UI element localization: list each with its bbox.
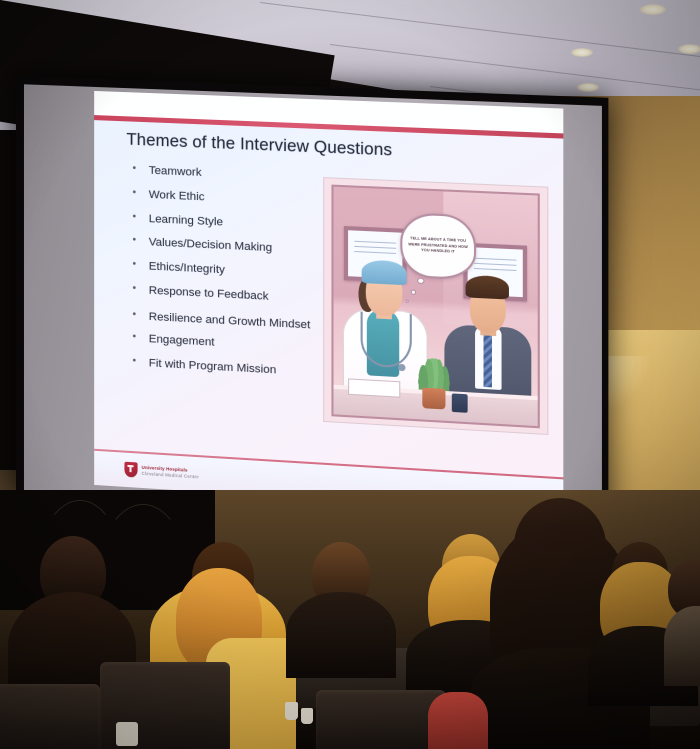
bullet-item: Work Ethic [128, 189, 333, 210]
bullet-item: Ethics/Integrity [128, 261, 333, 283]
bullet-item: Response to Feedback [128, 285, 333, 307]
audience-torso [286, 592, 396, 678]
screen-surface: Themes of the Interview Questions Teamwo… [24, 84, 602, 529]
speech-bubble-tail [410, 290, 415, 295]
coffee-cup [116, 722, 138, 746]
audience-member-red-jacket [428, 692, 488, 749]
conference-chair [316, 690, 446, 749]
audience-area [0, 490, 700, 749]
speech-bubble: Tell me about a time you were frustrated… [400, 212, 476, 280]
presentation-slide: Themes of the Interview Questions Teamwo… [94, 91, 563, 515]
papers-on-desk [348, 379, 401, 398]
ceiling-downlight [678, 44, 700, 54]
surgical-cap-icon [362, 259, 407, 285]
bullet-item: Learning Style [128, 213, 333, 234]
slide-illustration: Tell me about a time you were frustrated… [323, 177, 548, 435]
photo-scene: Themes of the Interview Questions Teamwo… [0, 0, 700, 749]
necktie-icon [483, 329, 491, 386]
bullet-item: Resilience and Growth Mindset [128, 309, 333, 335]
ceiling-downlight [640, 4, 666, 15]
bullet-item: Fit with Program Mission [128, 357, 333, 380]
university-hospitals-logo: University Hospitals Cleveland Medical C… [124, 462, 199, 482]
interviewee-hair [466, 274, 509, 299]
projection-screen: Themes of the Interview Questions Teamwo… [16, 76, 608, 538]
ceiling-downlight [577, 83, 599, 92]
bullet-item: Engagement [128, 333, 333, 356]
shield-icon [124, 462, 137, 478]
drinking-glass [301, 708, 313, 724]
interviewee-figure [441, 265, 536, 412]
pen-cup-icon [451, 394, 467, 413]
bullet-item: Values/Decision Making [128, 237, 333, 258]
slide-title: Themes of the Interview Questions [126, 130, 392, 160]
plant-pot-icon [423, 387, 445, 409]
speech-bubble-text: Tell me about a time you were frustrated… [402, 236, 473, 256]
ceiling-downlight [571, 48, 593, 57]
slide-bullet-list: Teamwork Work Ethic Learning Style Value… [128, 165, 333, 393]
illustration-scene: Tell me about a time you were frustrated… [331, 185, 539, 429]
conference-chair [0, 684, 100, 749]
drinking-glass [285, 702, 298, 720]
plant-leaves-icon [416, 357, 453, 391]
audience-member [286, 542, 398, 672]
audience-torso [664, 606, 700, 686]
audience-member [664, 560, 700, 680]
stethoscope-bell-icon [398, 364, 405, 372]
speech-bubble-tail [417, 277, 424, 284]
bullet-item: Teamwork [128, 165, 333, 185]
